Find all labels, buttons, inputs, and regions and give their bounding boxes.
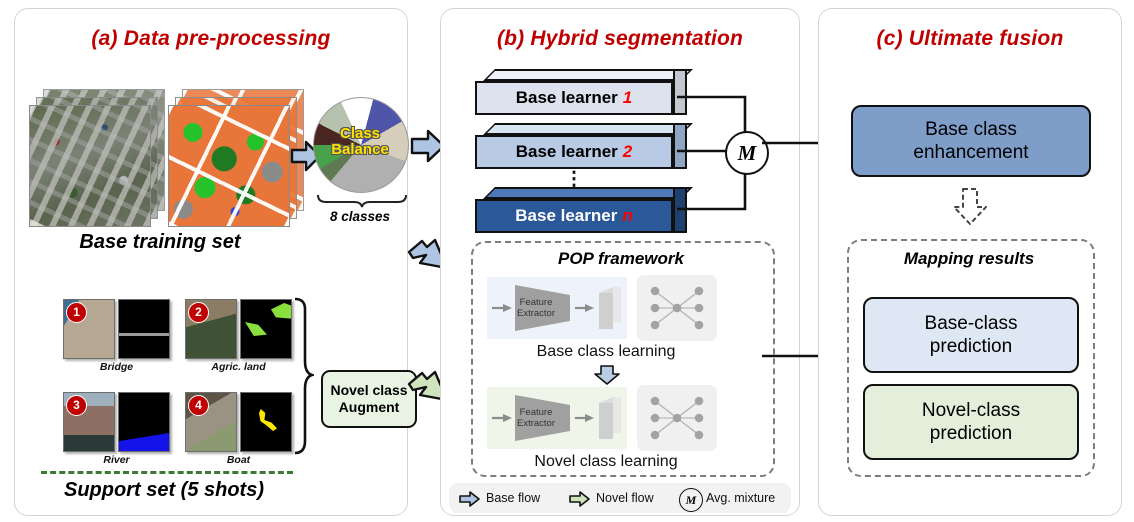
base-learner-2-num: 2: [618, 142, 632, 162]
support-badge-3: 3: [66, 395, 87, 416]
support-tile-4-mask: [240, 392, 292, 452]
fe-novel-line2: Extractor: [493, 418, 579, 429]
base-class-prediction-box[interactable]: Base-class prediction: [863, 297, 1079, 373]
base-learner-1-label: Base learner: [516, 88, 618, 108]
legend-base-flow-icon: [459, 491, 481, 507]
learner-ellipsis: ⋮: [559, 177, 589, 183]
panel-ultimate-fusion: (c) Ultimate fusion Base class enhanceme…: [818, 8, 1122, 516]
avg-mixture-symbol: M: [738, 141, 757, 166]
base-learner-1-num: 1: [618, 88, 632, 108]
base-class-enhancement-box[interactable]: Base class enhancement: [851, 105, 1091, 177]
hollow-down-arrow-icon: [951, 187, 989, 227]
base-learner-n-label: Base learner: [515, 206, 617, 226]
base-learner-n-num: n: [617, 206, 632, 226]
panel-hybrid-segmentation: (b) Hybrid segmentation Base learner1 Ba…: [440, 8, 800, 516]
pie-label-line1: Class: [313, 126, 407, 142]
base-pred-line1: Base-class: [925, 312, 1018, 335]
novel-class-prediction-box[interactable]: Novel-class prediction: [863, 384, 1079, 460]
pop-novel-caption: Novel class learning: [471, 453, 741, 471]
base-training-set-caption: Base training set: [29, 231, 291, 254]
pop-down-arrow-icon: [593, 365, 621, 385]
fe-base-line1: Feature: [493, 297, 579, 308]
support-tile-1-image: 1: [63, 299, 115, 359]
pie-brace-icon: [315, 193, 407, 209]
legend-novel-flow-icon: [569, 491, 591, 507]
fe-base-line2: Extractor: [493, 308, 579, 319]
support-tile-1-mask: [118, 299, 170, 359]
mlp-base-icon: [637, 275, 717, 341]
pie-label-line2: Balance: [313, 142, 407, 158]
support-label-2: Agric. land: [185, 361, 292, 373]
support-label-4: Boat: [185, 454, 292, 466]
novel-class-augment-box[interactable]: Novel class Augment: [321, 370, 417, 428]
figure-root: (a) Data pre-processing Base training se…: [0, 0, 1134, 522]
support-tile-2-mask: [240, 299, 292, 359]
support-tile-3-image: 3: [63, 392, 115, 452]
panel-data-preprocessing: (a) Data pre-processing Base training se…: [14, 8, 408, 516]
support-label-1: Bridge: [63, 361, 170, 373]
support-label-3: River: [63, 454, 170, 466]
pop-framework-title: POP framework: [471, 249, 771, 269]
legend-base-flow-label: Base flow: [486, 491, 540, 505]
legend-novel-flow-label: Novel flow: [596, 491, 654, 505]
mlp-novel-icon: [637, 385, 717, 451]
support-brace-icon: [292, 297, 314, 457]
mapping-results-title: Mapping results: [847, 249, 1091, 269]
support-set-caption: Support set (5 shots): [29, 479, 299, 502]
base-learner-2-label: Base learner: [516, 142, 618, 162]
augment-line2: Augment: [330, 399, 407, 416]
support-tile-4-image: 4: [185, 392, 237, 452]
support-badge-4: 4: [188, 395, 209, 416]
panel-a-title: (a) Data pre-processing: [15, 27, 407, 51]
enhancement-line1: Base class: [913, 118, 1028, 141]
support-badge-1: 1: [66, 302, 87, 323]
support-tile-2-image: 2: [185, 299, 237, 359]
pop-base-caption: Base class learning: [471, 343, 741, 361]
support-badge-2: 2: [188, 302, 209, 323]
support-divider: [41, 471, 293, 474]
panel-b-title: (b) Hybrid segmentation: [441, 27, 799, 51]
support-tile-3-mask: [118, 392, 170, 452]
legend-avg-mixture-label: Avg. mixture: [706, 491, 775, 505]
base-pred-line2: prediction: [925, 335, 1018, 358]
legend-avg-mixture-icon: M: [679, 488, 703, 512]
fe-novel-line1: Feature: [493, 407, 579, 418]
enhancement-line2: enhancement: [913, 141, 1028, 164]
panel-c-title: (c) Ultimate fusion: [819, 27, 1121, 51]
augment-line1: Novel class: [330, 382, 407, 399]
novel-pred-line2: prediction: [922, 422, 1020, 445]
pie-classes-caption: 8 classes: [313, 209, 407, 224]
novel-pred-line1: Novel-class: [922, 399, 1020, 422]
